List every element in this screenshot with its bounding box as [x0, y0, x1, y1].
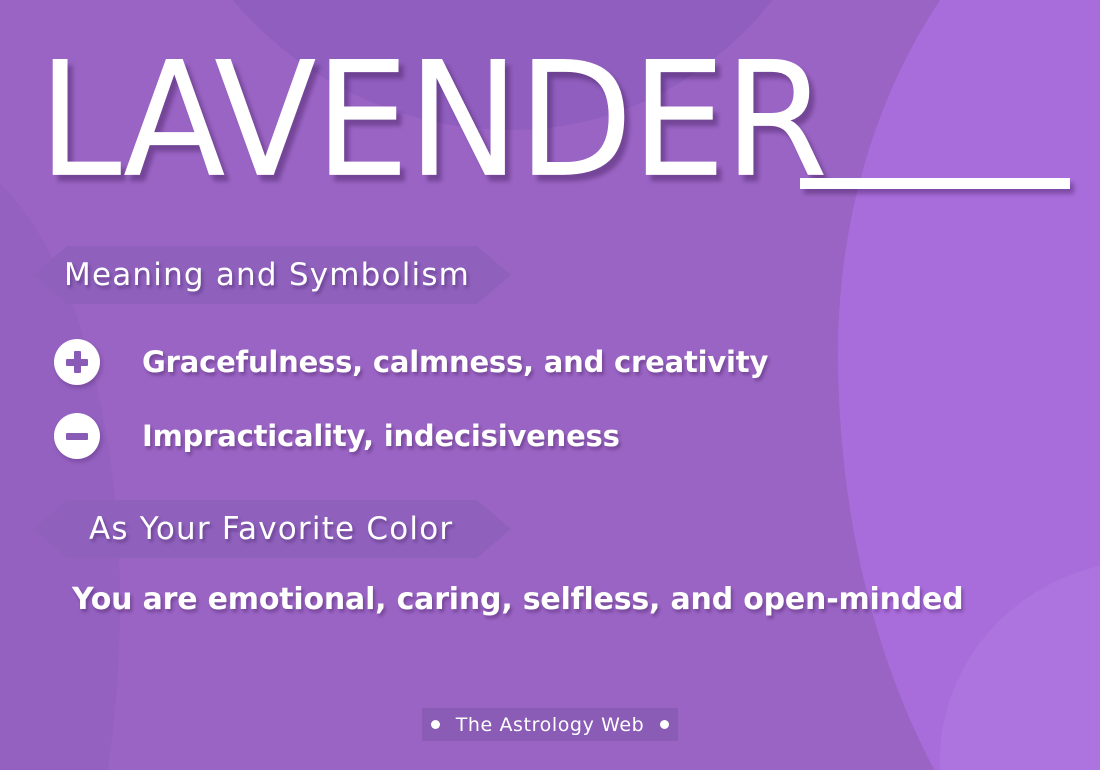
bullet-negative: Impracticality, indecisiveness [54, 413, 620, 459]
minus-icon [54, 413, 100, 459]
section-ribbon-favorite-color-label: As Your Favorite Color [33, 511, 453, 547]
section-ribbon-meaning-label: Meaning and Symbolism [33, 257, 470, 293]
background-blob-bottom-right [940, 560, 1100, 770]
poster-canvas: LAVENDER Meaning and Symbolism Gracefuln… [0, 0, 1100, 770]
dot-icon-right [660, 720, 669, 729]
bullet-positive-text: Gracefulness, calmness, and creativity [142, 345, 768, 379]
section-ribbon-favorite-color: As Your Favorite Color [33, 500, 511, 558]
bullet-negative-text: Impracticality, indecisiveness [142, 419, 620, 453]
plus-glyph [66, 351, 88, 373]
footer-brand-badge: The Astrology Web [422, 708, 678, 741]
background-blob-left [0, 150, 120, 770]
dot-icon-left [431, 720, 440, 729]
section-ribbon-meaning: Meaning and Symbolism [33, 246, 511, 304]
footer-brand-label: The Astrology Web [456, 714, 645, 736]
plus-icon [54, 339, 100, 385]
bullet-positive: Gracefulness, calmness, and creativity [54, 339, 768, 385]
favorite-color-description: You are emotional, caring, selfless, and… [72, 582, 963, 617]
title-underline-rule [800, 178, 1070, 189]
minus-glyph [66, 425, 88, 447]
